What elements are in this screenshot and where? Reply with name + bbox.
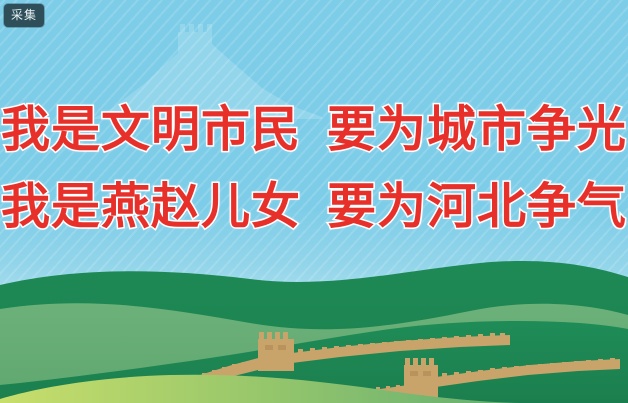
slogan-line-1: 我是文明市民要为城市争光 bbox=[0, 92, 628, 169]
collect-button[interactable]: 采集 bbox=[4, 4, 44, 27]
poster-canvas: 我是文明市民要为城市争光 我是燕赵儿女要为河北争气 采集 bbox=[0, 0, 628, 403]
slogan-block: 我是文明市民要为城市争光 我是燕赵儿女要为河北争气 bbox=[0, 92, 628, 246]
rolling-hills-illustration bbox=[0, 253, 628, 403]
slogan-line-2-right: 要为河北争气 bbox=[327, 180, 627, 234]
slogan-line-1-right: 要为城市争光 bbox=[327, 103, 627, 157]
slogan-line-2-left: 我是燕赵儿女 bbox=[1, 180, 301, 234]
slogan-line-1-left: 我是文明市民 bbox=[1, 103, 301, 157]
slogan-line-2: 我是燕赵儿女要为河北争气 bbox=[0, 169, 628, 246]
